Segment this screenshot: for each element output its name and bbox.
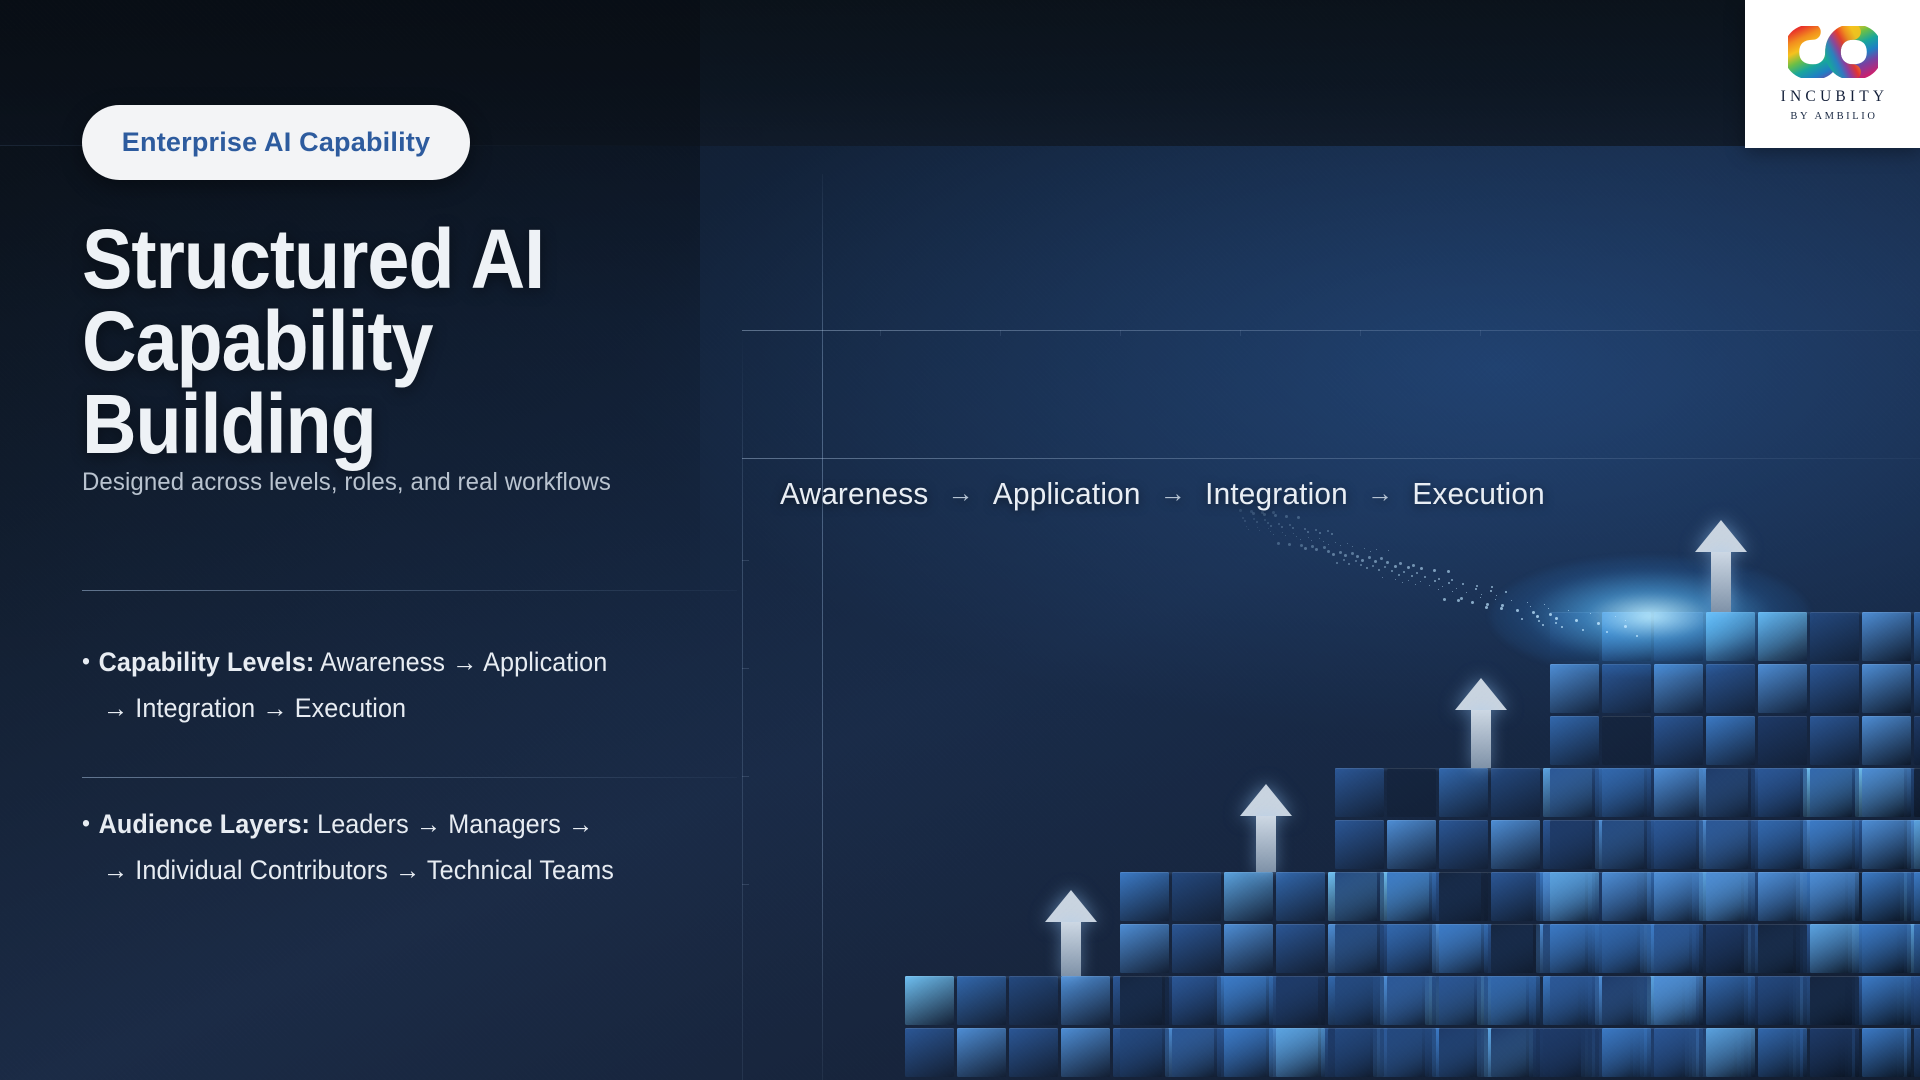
- slide-canvas: Awareness → Application → Integration → …: [0, 0, 1920, 1080]
- brand-logo-card: INCUBITY BY AMBILIO: [1745, 0, 1920, 148]
- category-badge: Enterprise AI Capability: [82, 105, 470, 180]
- page-subtitle: Designed across levels, roles, and real …: [82, 467, 696, 498]
- bullet-1-continuation: → Integration → Execution: [103, 686, 690, 732]
- category-badge-label: Enterprise AI Capability: [122, 127, 430, 158]
- left-content-panel: Enterprise AI Capability Structured AI C…: [0, 0, 700, 1080]
- bullet-dot-icon: •: [82, 810, 90, 837]
- bullet-2-continuation: → Individual Contributors → Technical Te…: [103, 848, 690, 894]
- bullet-2-rest: Leaders → Managers →: [310, 809, 593, 839]
- bullet-2-lead: Audience Layers:: [99, 809, 310, 839]
- page-title-line-1: Structured AI: [82, 212, 544, 306]
- brand-name: INCUBITY: [1781, 88, 1889, 106]
- page-title-line-2: Capability Building: [82, 300, 622, 465]
- list-item: •Capability Levels: Awareness → Applicat…: [82, 640, 690, 731]
- brand-tagline: BY AMBILIO: [1790, 111, 1877, 122]
- divider-1: [82, 590, 737, 591]
- infinity-loop-icon: [1788, 26, 1878, 78]
- bullet-dot-icon: •: [82, 648, 90, 675]
- list-item: •Audience Layers: Leaders → Managers → →…: [82, 802, 690, 893]
- divider-2: [82, 777, 737, 778]
- page-title: Structured AI Capability Building: [82, 218, 622, 465]
- bullet-1-lead: Capability Levels:: [99, 647, 315, 677]
- bullet-1-rest: Awareness → Application: [314, 647, 607, 677]
